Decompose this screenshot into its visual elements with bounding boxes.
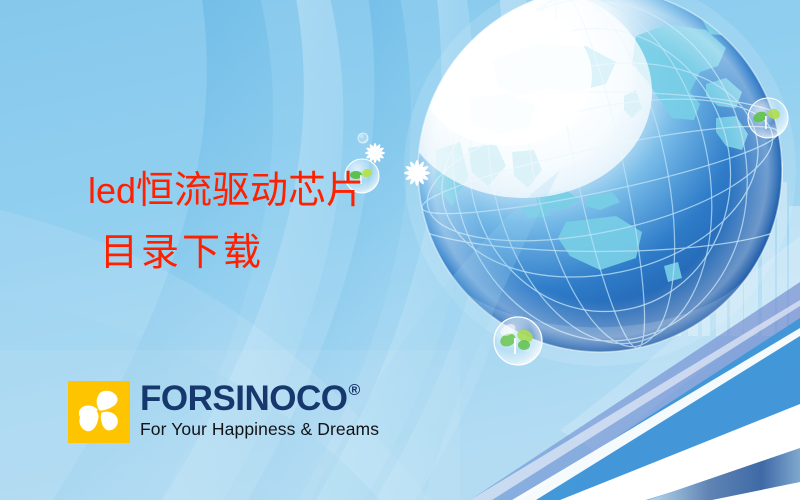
bubble-icon: [748, 98, 788, 138]
logo-tagline: For Your Happiness & Dreams: [140, 418, 379, 440]
bubble-icon: [358, 133, 368, 143]
logo-text-block: FORSINOCO® For Your Happiness & Dreams: [140, 381, 379, 440]
bubble-icon: [345, 159, 379, 193]
pinwheel-petals-svg: [68, 381, 130, 443]
poster-canvas: led恒流驱动芯片 目录下载 FORSINOCO® For Your Happi…: [0, 0, 800, 500]
logo-wordmark-text: FORSINOCO: [140, 381, 347, 417]
registered-trademark-icon: ®: [348, 383, 359, 399]
bubble-icon: [494, 317, 542, 365]
four-petal-pinwheel-icon: [68, 381, 130, 443]
brand-logo: FORSINOCO® For Your Happiness & Dreams: [68, 381, 379, 443]
logo-wordmark: FORSINOCO®: [140, 381, 379, 417]
